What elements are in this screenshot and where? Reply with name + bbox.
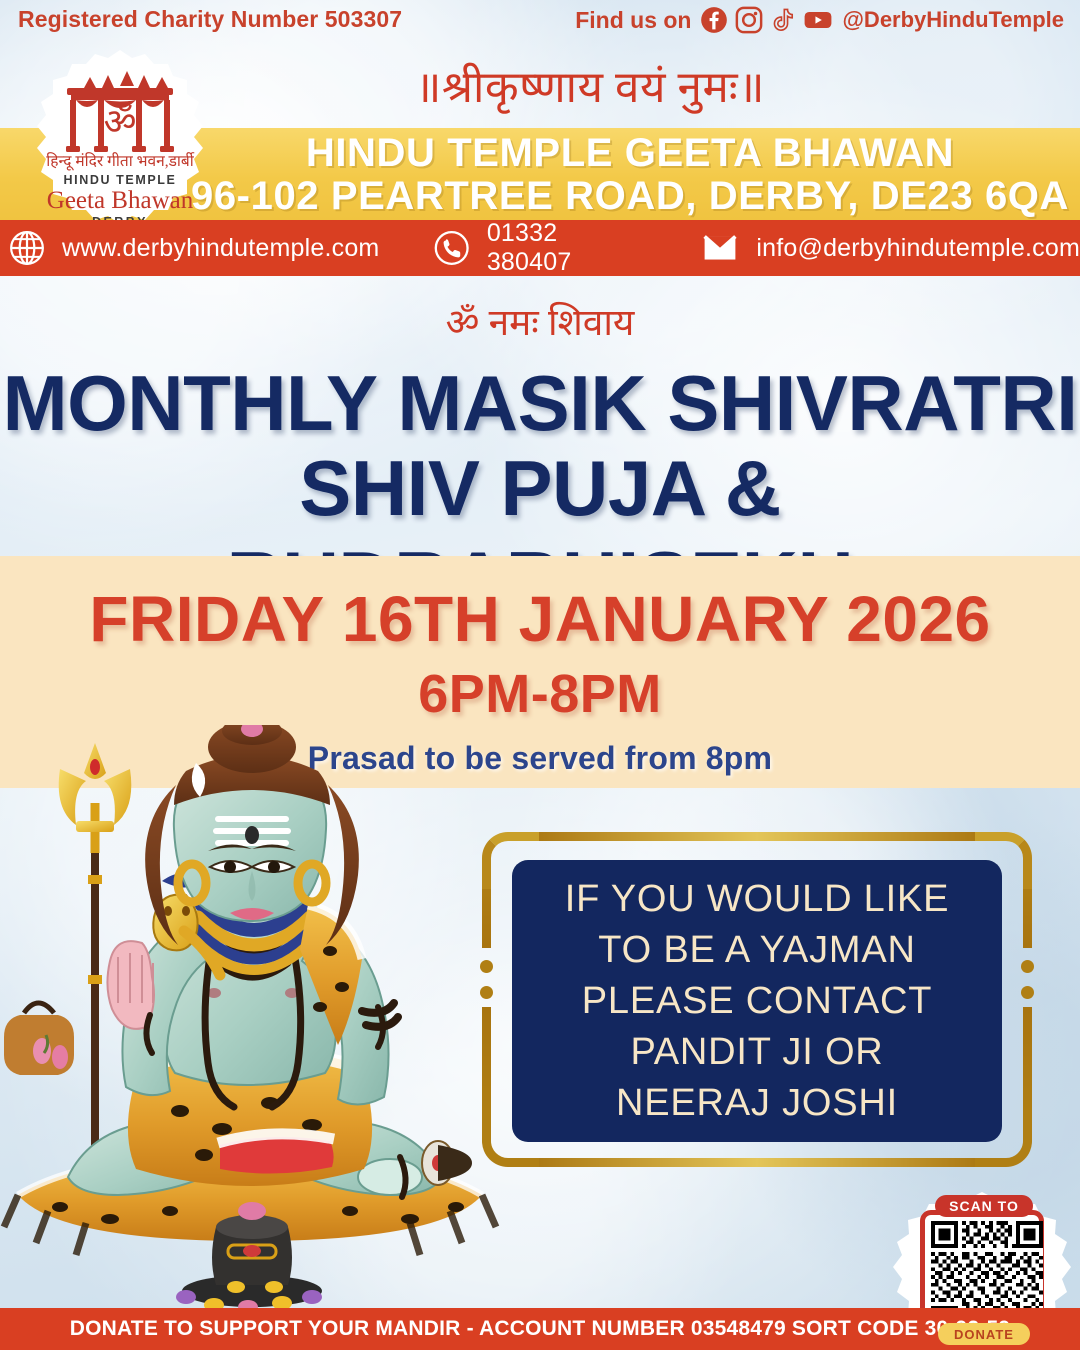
poster-canvas: Registered Charity Number 503307 Find us… bbox=[0, 0, 1080, 1350]
frame-dot-left-1 bbox=[480, 960, 493, 973]
scan-to-label: SCAN TO bbox=[935, 1195, 1033, 1217]
temple-address: 96-102 PEARTREE ROAD, DERBY, DE23 6QA bbox=[180, 174, 1080, 219]
logo-om-icon: ॐ bbox=[104, 102, 137, 142]
logo-line-geeta-bhawan: Geeta Bhawan bbox=[47, 187, 194, 214]
yajman-line-5: NEERAJ JOSHI bbox=[616, 1078, 898, 1129]
temple-name: HINDU TEMPLE GEETA BHAWAN bbox=[180, 131, 1080, 176]
event-title-line-1: MONTHLY MASIK SHIVRATRI bbox=[0, 358, 1080, 449]
yajman-line-3: PLEASE CONTACT bbox=[582, 976, 932, 1027]
frame-bar-bottom bbox=[522, 1158, 992, 1167]
tiktok-icon[interactable] bbox=[770, 6, 796, 34]
social-handle[interactable]: @DerbyHinduTemple bbox=[842, 7, 1064, 33]
kamandal-pot bbox=[4, 1003, 74, 1075]
phone-text: 01332 380407 bbox=[487, 219, 647, 277]
event-date: FRIDAY 16TH JANUARY 2026 bbox=[0, 582, 1080, 656]
social-follow-group: Find us on @DerbyHin bbox=[575, 6, 1064, 34]
frame-dot-left-2 bbox=[480, 986, 493, 999]
lord-shiva-illustration bbox=[0, 725, 510, 1335]
yajman-line-4: PANDIT JI OR bbox=[630, 1027, 883, 1078]
charity-number: Registered Charity Number 503307 bbox=[18, 6, 402, 33]
damru-drum bbox=[422, 1141, 472, 1185]
envelope-icon bbox=[700, 229, 740, 267]
donate-label: DONATE bbox=[938, 1323, 1030, 1345]
frame-dot-right-1 bbox=[1021, 960, 1034, 973]
social-icons bbox=[700, 6, 833, 34]
frame-dot-right-2 bbox=[1021, 986, 1034, 999]
facebook-icon[interactable] bbox=[700, 6, 728, 34]
third-eye bbox=[245, 826, 259, 844]
event-time: 6PM-8PM bbox=[0, 663, 1080, 725]
email-text: info@derbyhindutemple.com bbox=[756, 234, 1080, 263]
top-strip: Registered Charity Number 503307 Find us… bbox=[0, 0, 1080, 48]
offering-lotus bbox=[238, 1202, 266, 1220]
instagram-icon[interactable] bbox=[735, 6, 763, 34]
find-us-label: Find us on bbox=[575, 7, 691, 34]
youtube-icon[interactable] bbox=[803, 6, 833, 34]
temple-logo: ॐ हिन्दू मंदिर गीता भवन,डार्बी HINDU TEM… bbox=[24, 48, 216, 240]
phone-icon bbox=[433, 229, 470, 267]
donate-footer-bar: DONATE TO SUPPORT YOUR MANDIR - ACCOUNT … bbox=[0, 1308, 1080, 1350]
contact-bar: www.derbyhindutemple.com 01332 380407 in… bbox=[0, 220, 1080, 276]
yajman-line-1: IF YOU WOULD LIKE bbox=[565, 874, 950, 925]
frame-bar-top bbox=[522, 832, 992, 841]
logo-line-hindu-temple: HINDU TEMPLE bbox=[64, 173, 177, 187]
website-text: www.derbyhindutemple.com bbox=[62, 234, 379, 263]
contact-email[interactable]: info@derbyhindutemple.com bbox=[700, 229, 1080, 267]
frame-bar-left-lower bbox=[482, 1007, 491, 1127]
yajman-contact-box: IF YOU WOULD LIKE TO BE A YAJMAN PLEASE … bbox=[512, 860, 1002, 1142]
shiva-mantra: ॐ नमः शिवाय bbox=[0, 295, 1080, 346]
donate-account-text: DONATE TO SUPPORT YOUR MANDIR - ACCOUNT … bbox=[70, 1317, 1011, 1341]
frame-bar-right-lower bbox=[1023, 1007, 1032, 1127]
logo-hindi-name: हिन्दू मंदिर गीता भवन,डार्बी bbox=[46, 152, 194, 171]
globe-icon bbox=[8, 229, 46, 267]
yajman-line-2: TO BE A YAJMAN bbox=[598, 925, 915, 976]
contact-phone[interactable]: 01332 380407 bbox=[433, 219, 646, 277]
contact-website[interactable]: www.derbyhindutemple.com bbox=[8, 229, 379, 267]
